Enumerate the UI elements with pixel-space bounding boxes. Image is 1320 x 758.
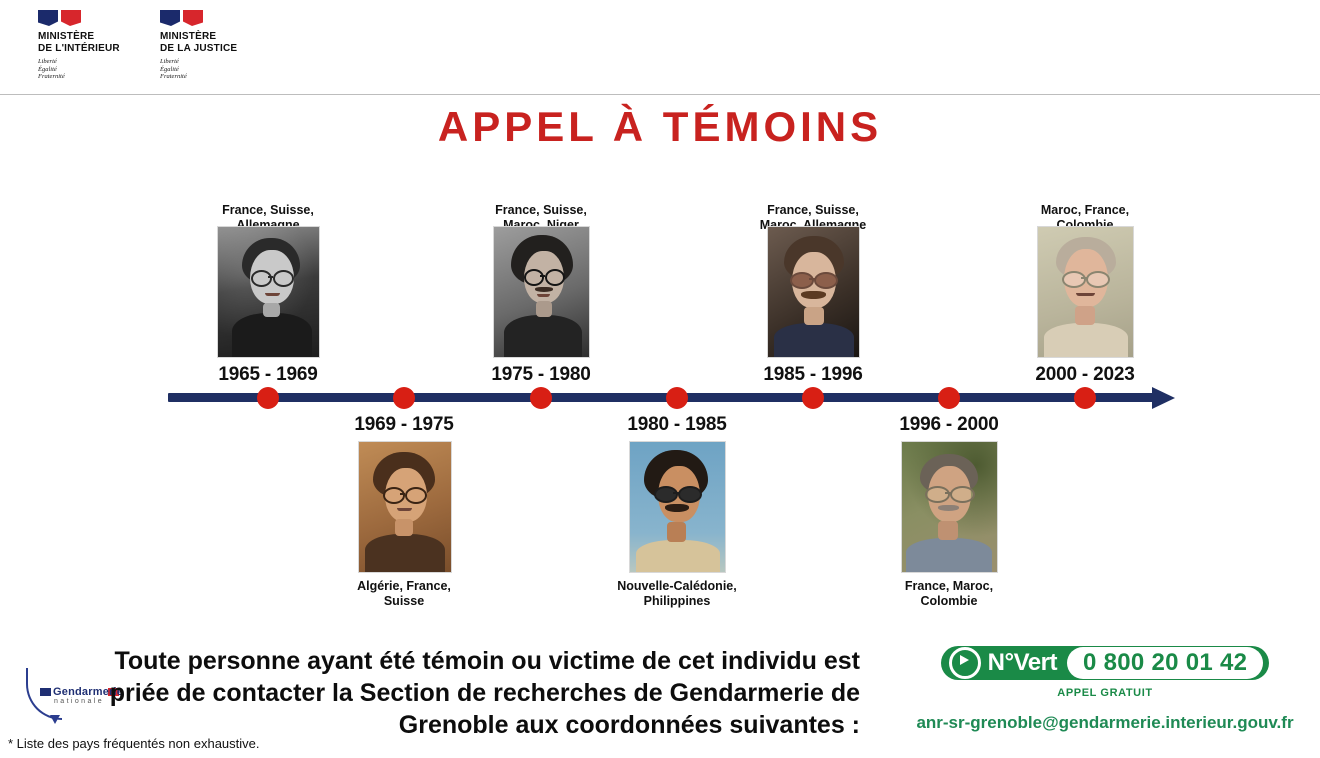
blue-square-icon bbox=[40, 688, 51, 696]
ministry-motto: Liberté Égalité Fraternité bbox=[160, 58, 237, 81]
gendarmerie-logo-sub: nationale bbox=[54, 698, 104, 705]
entry-years: 1996 - 2000 bbox=[854, 414, 1044, 436]
timeline-entry: France, Suisse, Allemagne 1965 - 1969 bbox=[173, 171, 363, 386]
entry-years: 1980 - 1985 bbox=[582, 414, 772, 436]
portrait-photo bbox=[358, 441, 452, 573]
timeline-node bbox=[257, 387, 279, 409]
timeline-arrow-icon bbox=[1152, 387, 1175, 409]
portrait-photo bbox=[217, 226, 320, 358]
portrait-photo bbox=[767, 226, 860, 358]
timeline-entry: 1996 - 2000 France, Maroc, Colombie bbox=[854, 414, 1044, 614]
header-bar: MINISTÈRE DE L'INTÉRIEUR Liberté Égalité… bbox=[0, 0, 1320, 95]
numero-vert-label: N°Vert bbox=[988, 649, 1057, 677]
play-circle-icon bbox=[949, 647, 981, 679]
entry-years: 1969 - 1975 bbox=[309, 414, 499, 436]
timeline-entry: France, Suisse, Maroc, Allemagne 1985 - … bbox=[718, 171, 908, 386]
phone-number: 0 800 20 01 42 bbox=[1067, 647, 1263, 679]
ministry-justice-logo: MINISTÈRE DE LA JUSTICE Liberté Égalité … bbox=[160, 10, 237, 81]
portrait-art bbox=[630, 442, 725, 572]
timeline-node bbox=[530, 387, 552, 409]
contact-email[interactable]: anr-sr-grenoble@gendarmerie.interieur.go… bbox=[905, 713, 1305, 733]
timeline-entry: 1980 - 1985 Nouvelle-Calédonie, Philippi… bbox=[582, 414, 772, 614]
poster: MINISTÈRE DE L'INTÉRIEUR Liberté Égalité… bbox=[0, 0, 1320, 758]
timeline-node bbox=[666, 387, 688, 409]
portrait-art bbox=[902, 442, 997, 572]
portrait-photo bbox=[493, 226, 590, 358]
timeline-axis bbox=[168, 393, 1156, 402]
timeline-node bbox=[1074, 387, 1096, 409]
portrait-art bbox=[494, 227, 589, 357]
entry-years: 1985 - 1996 bbox=[718, 364, 908, 386]
french-flag-icon bbox=[160, 10, 204, 26]
entry-countries: Algérie, France, Suisse bbox=[309, 579, 499, 608]
ministry-interieur-logo: MINISTÈRE DE L'INTÉRIEUR Liberté Égalité… bbox=[38, 10, 120, 81]
portrait-art bbox=[768, 227, 859, 357]
numero-vert-badge[interactable]: N°Vert 0 800 20 01 42 bbox=[941, 646, 1270, 680]
portrait-art bbox=[218, 227, 319, 357]
portrait-photo bbox=[901, 441, 998, 573]
portrait-art bbox=[1038, 227, 1133, 357]
french-flag-icon bbox=[38, 10, 82, 26]
ministry-name: MINISTÈRE DE LA JUSTICE bbox=[160, 31, 237, 54]
entry-years: 2000 - 2023 bbox=[990, 364, 1180, 386]
entry-countries: Nouvelle-Calédonie, Philippines bbox=[582, 579, 772, 608]
appeal-text: Toute personne ayant été témoin ou victi… bbox=[100, 645, 860, 741]
timeline-entry: Maroc, France, Colombie 2000 - 2023 bbox=[990, 171, 1180, 386]
page-title: APPEL À TÉMOINS bbox=[0, 103, 1320, 151]
contact-block: N°Vert 0 800 20 01 42 APPEL GRATUIT anr-… bbox=[905, 646, 1305, 733]
footnote-text: * Liste des pays fréquentés non exhausti… bbox=[8, 736, 260, 751]
entry-years: 1965 - 1969 bbox=[173, 364, 363, 386]
timeline-node bbox=[802, 387, 824, 409]
free-call-label: APPEL GRATUIT bbox=[905, 687, 1305, 699]
timeline-node bbox=[393, 387, 415, 409]
portrait-photo bbox=[1037, 226, 1134, 358]
timeline-node bbox=[938, 387, 960, 409]
ministry-motto: Liberté Égalité Fraternité bbox=[38, 58, 120, 81]
timeline-entry: 1969 - 1975 Algérie, France, Suisse bbox=[309, 414, 499, 614]
entry-years: 1975 - 1980 bbox=[446, 364, 636, 386]
timeline-entry: France, Suisse, Maroc, Niger 1975 - 1980 bbox=[446, 171, 636, 386]
entry-countries: France, Maroc, Colombie bbox=[854, 579, 1044, 608]
portrait-art bbox=[359, 442, 451, 572]
portrait-photo bbox=[629, 441, 726, 573]
ministry-name: MINISTÈRE DE L'INTÉRIEUR bbox=[38, 31, 120, 54]
